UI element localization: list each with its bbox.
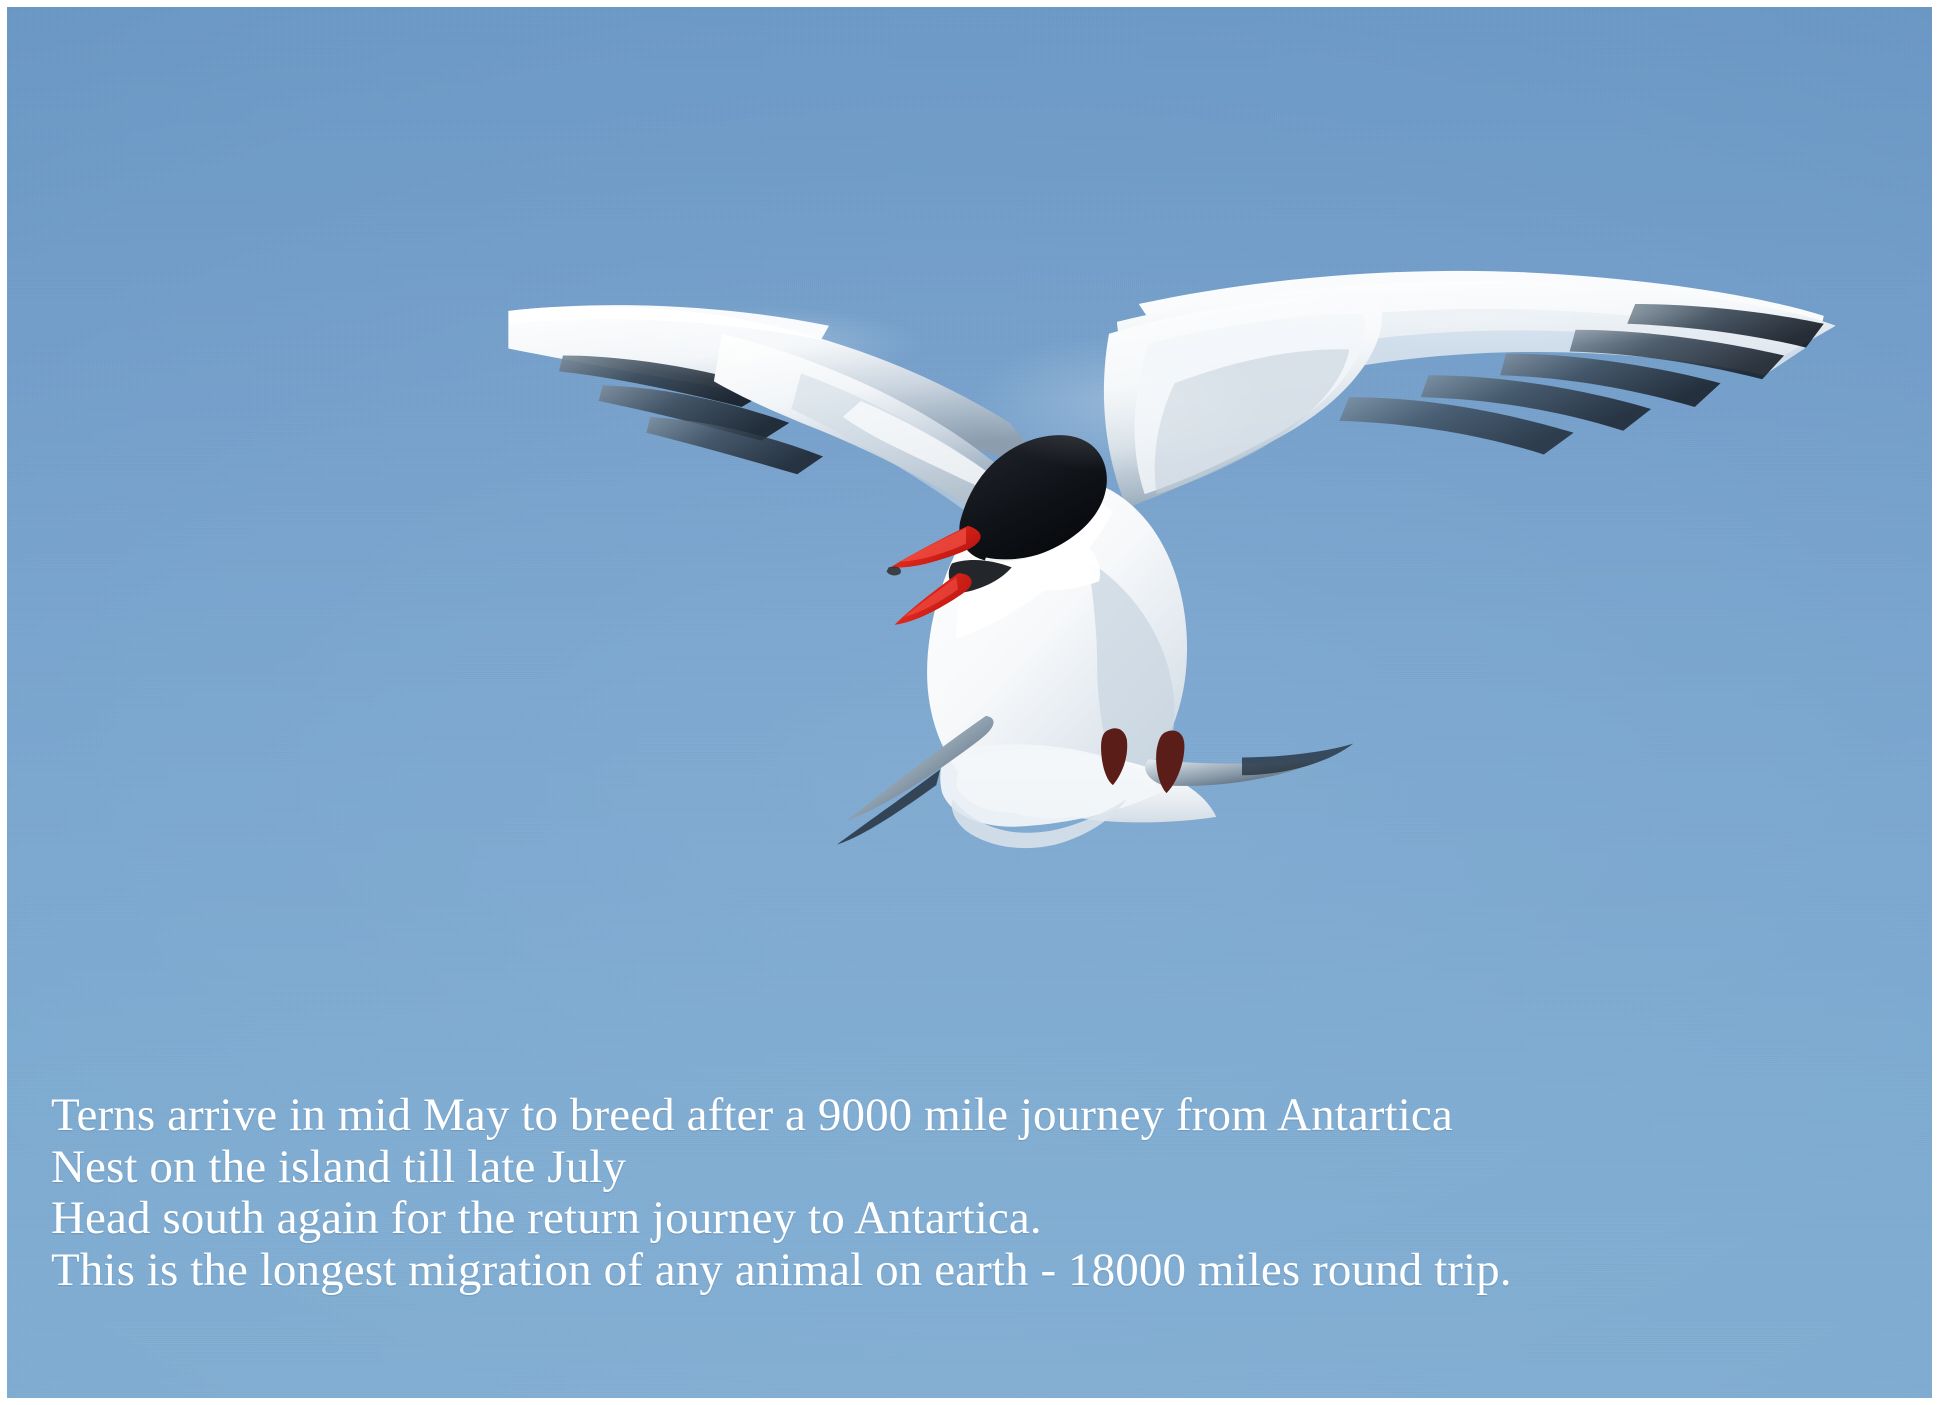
caption-block: Terns arrive in mid May to breed after a… <box>51 1090 1831 1296</box>
caption-line-3: Head south again for the return journey … <box>51 1193 1831 1245</box>
caption-line-1: Terns arrive in mid May to breed after a… <box>51 1090 1831 1142</box>
right-wing-glare <box>1228 282 1724 349</box>
photo-frame: Terns arrive in mid May to breed after a… <box>0 0 1939 1405</box>
caption-line-4: This is the longest migration of any ani… <box>51 1245 1831 1297</box>
caption-line-2: Nest on the island till late July <box>51 1142 1831 1194</box>
wing-glare <box>970 334 1268 473</box>
left-wing-glare <box>603 306 921 381</box>
